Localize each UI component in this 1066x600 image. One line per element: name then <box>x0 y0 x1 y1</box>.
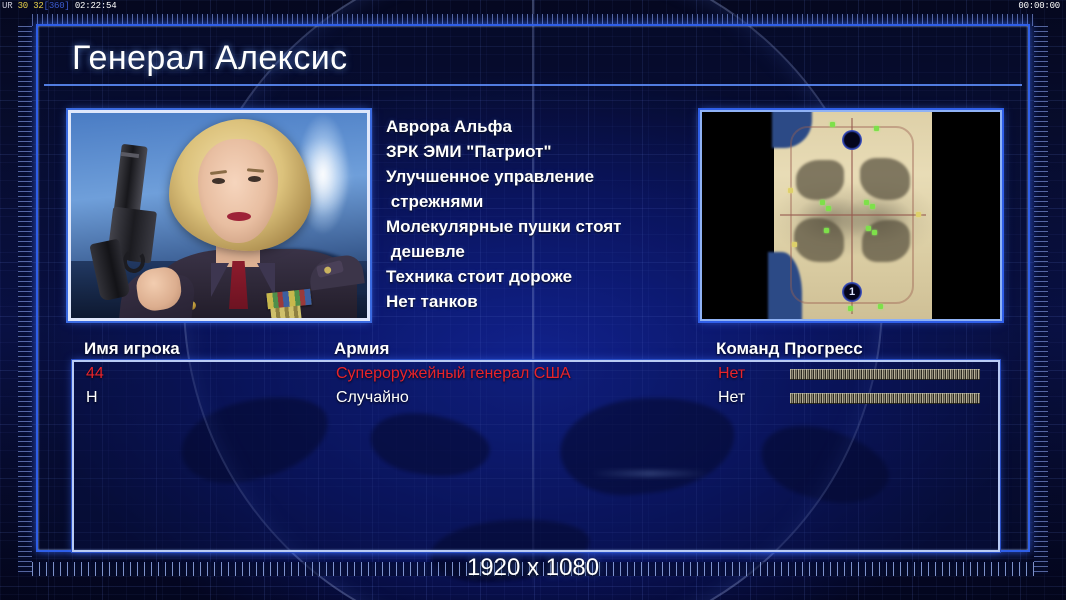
cell-army: Случайно <box>336 389 718 407</box>
hud-value-bracket: [360] <box>44 1 70 11</box>
game-screen: UR 30 32[360] 02:22:54 00:00:00 Генерал … <box>0 0 1066 600</box>
map-unit-marker <box>830 122 835 127</box>
description-line: Техника стоит дороже <box>386 264 696 289</box>
general-description: Аврора Альфа ЗРК ЭМИ "Патриот" Улучшенно… <box>386 114 696 314</box>
ruler-strip-left <box>18 26 32 574</box>
hud-elapsed-time: 02:22:54 <box>75 1 117 11</box>
map-terrain-rock <box>860 158 910 200</box>
map-unit-marker <box>824 228 829 233</box>
column-header-player-name: Имя игрока <box>84 339 334 361</box>
hud-label: UR <box>2 1 12 11</box>
map-unit-marker <box>820 200 825 205</box>
column-header-team-progress: Команд Прогресс <box>716 339 1004 361</box>
hud-value-fps: 30 <box>18 1 28 11</box>
cell-team: Нет <box>718 389 790 407</box>
description-line: Нет танков <box>386 289 696 314</box>
cell-army: Супероружейный генерал США <box>336 365 718 383</box>
map-unit-marker <box>866 226 871 231</box>
general-portrait <box>68 110 370 321</box>
portrait-eye <box>212 178 225 184</box>
map-preview-image: 1 <box>774 112 932 319</box>
map-preview[interactable]: 1 <box>700 110 1002 321</box>
cell-player-name: Н <box>86 389 336 407</box>
map-terrain-rock <box>794 218 844 262</box>
ruler-strip-right <box>1034 26 1048 574</box>
debug-hud-timer: 00:00:00 <box>1018 1 1060 11</box>
debug-hud-left: UR 30 32[360] 02:22:54 <box>2 1 116 11</box>
description-line: дешевле <box>386 239 696 264</box>
column-header-army: Армия <box>334 339 716 361</box>
cell-player-name: 44 <box>86 365 336 383</box>
portrait-eye <box>248 176 261 182</box>
description-line: стрежнями <box>386 189 696 214</box>
description-line: ЗРК ЭМИ "Патриот" <box>386 139 696 164</box>
progress-bar <box>790 393 980 404</box>
player-table: 44 Супероружейный генерал США Нет Н Случ… <box>72 360 1000 552</box>
description-line: Молекулярные пушки стоят <box>386 214 696 239</box>
map-unit-marker <box>878 304 883 309</box>
map-unit-marker <box>916 212 921 217</box>
player-table-header: Имя игрока Армия Команд Прогресс <box>84 339 1004 361</box>
map-unit-marker <box>864 200 869 205</box>
general-info-row: Аврора Альфа ЗРК ЭМИ "Патриот" Улучшенно… <box>68 110 1002 325</box>
portrait-lips <box>227 212 251 221</box>
portrait-collar-left <box>211 263 229 297</box>
map-unit-marker <box>848 306 853 311</box>
map-road-horizontal <box>780 214 926 216</box>
resolution-label: 1920 x 1080 <box>0 554 1066 582</box>
description-line: Аврора Альфа <box>386 114 696 139</box>
page-title: Генерал Алексис <box>72 39 348 78</box>
map-start-position-marker <box>842 130 862 150</box>
map-unit-marker <box>788 188 793 193</box>
progress-bar <box>790 369 980 380</box>
table-row[interactable]: 44 Супероружейный генерал США Нет <box>74 362 998 386</box>
title-bar: Генерал Алексис <box>44 32 1022 86</box>
map-unit-marker <box>792 242 797 247</box>
description-line: Улучшенное управление <box>386 164 696 189</box>
map-start-position-marker: 1 <box>842 282 862 302</box>
portrait-medal-icon <box>270 305 301 321</box>
map-unit-marker <box>870 204 875 209</box>
map-unit-marker <box>826 206 831 211</box>
portrait-uniform-button <box>179 318 188 321</box>
map-unit-marker <box>874 126 879 131</box>
cell-team: Нет <box>718 365 790 383</box>
map-unit-marker <box>872 230 877 235</box>
table-row[interactable]: Н Случайно Нет <box>74 386 998 410</box>
hud-value-frame: 32 <box>33 1 43 11</box>
